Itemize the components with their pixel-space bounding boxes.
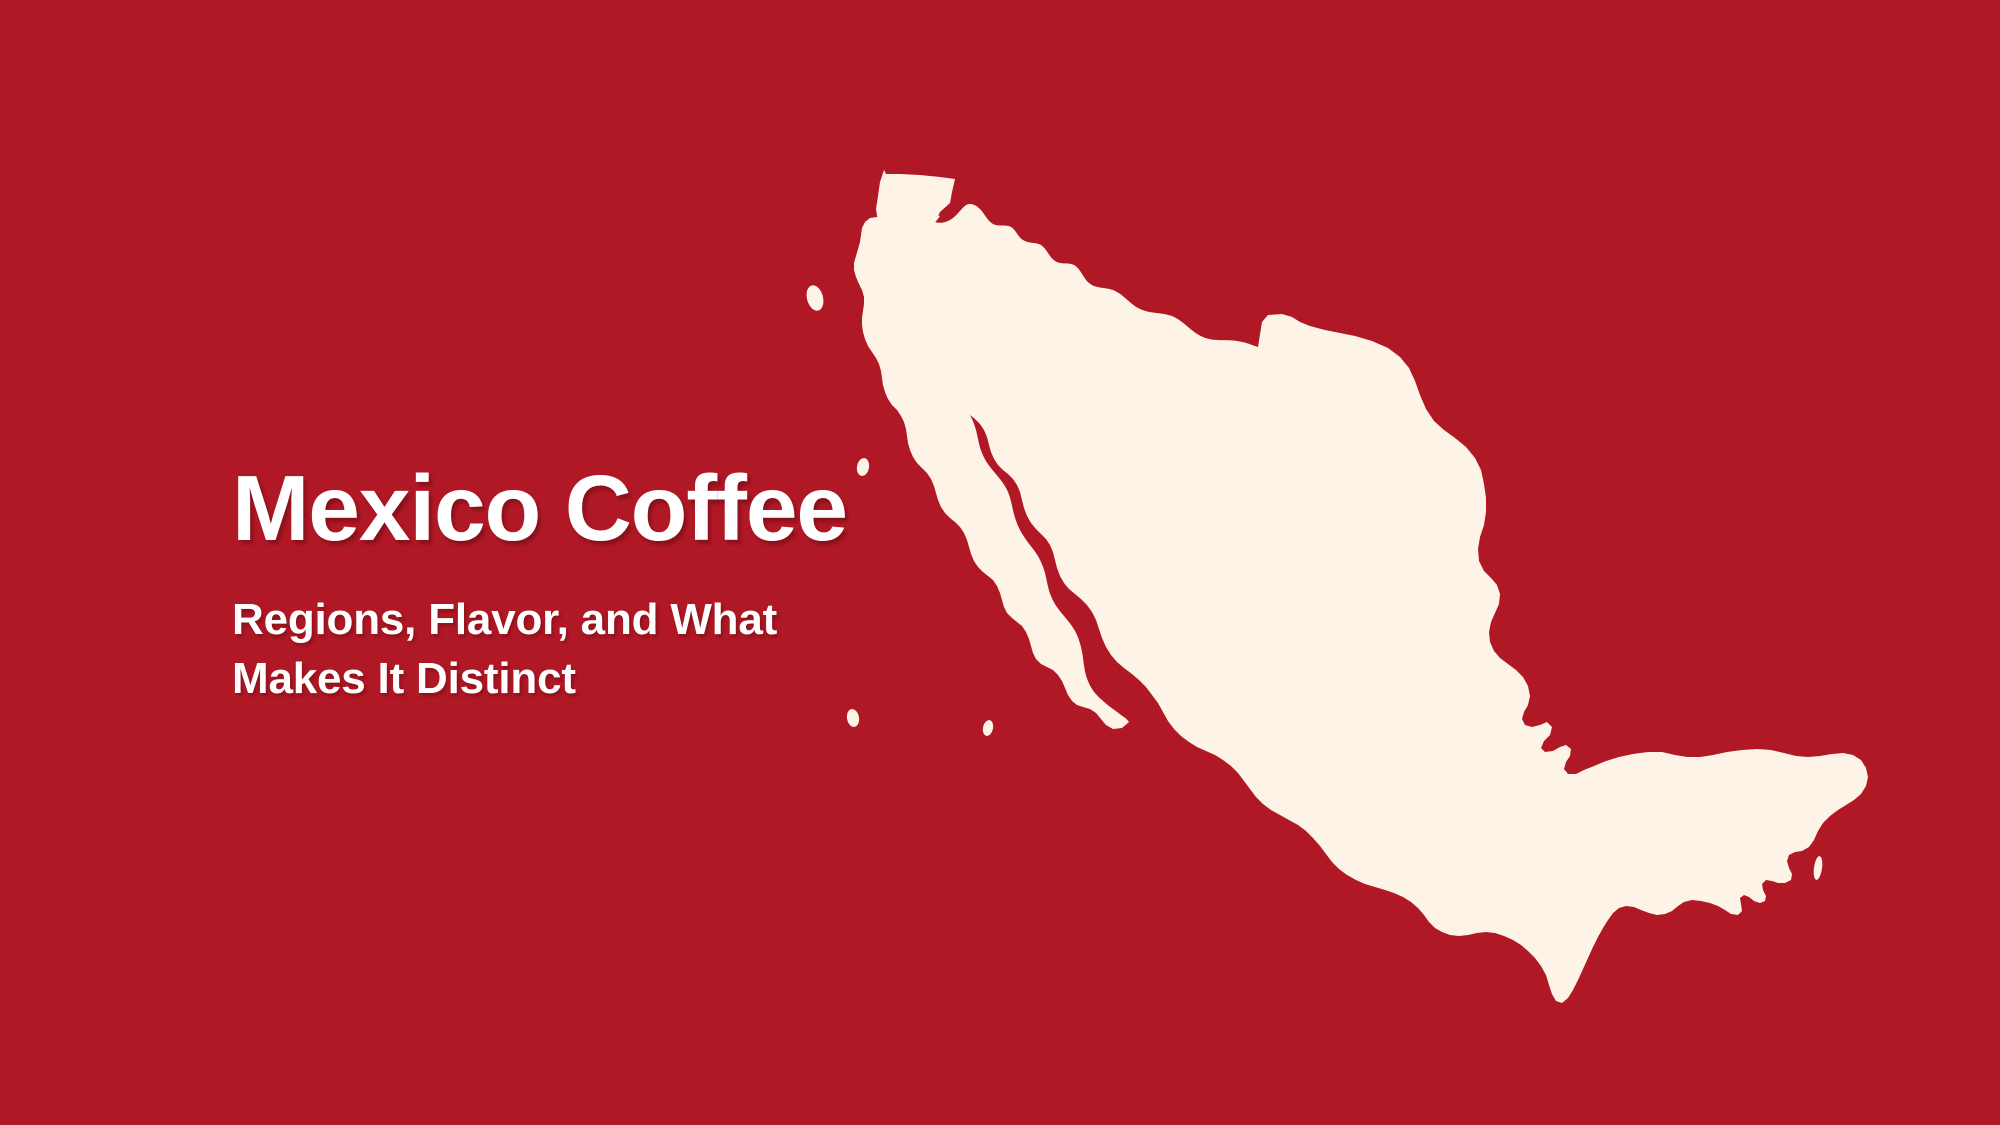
subtitle-line-2: Makes It Distinct — [232, 650, 992, 709]
island-cozumel-icon — [1812, 856, 1823, 881]
island-clarion-icon — [846, 708, 861, 728]
mexico-mainland-group — [861, 170, 1868, 1003]
island-angel-de-la-guarda-icon — [1021, 340, 1041, 364]
island-revillagigedo-icon — [981, 719, 994, 737]
mexico-mainland-path — [861, 170, 1868, 1003]
headline-block: Mexico Coffee Regions, Flavor, and What … — [232, 462, 992, 708]
island-tiburon-icon — [1176, 517, 1196, 542]
island-guadalupe-icon — [804, 283, 826, 312]
island-natividad-icon — [925, 362, 940, 379]
subtitle-line-1: Regions, Flavor, and What — [232, 591, 992, 650]
page-title: Mexico Coffee — [232, 462, 992, 555]
poster-canvas: Mexico Coffee Regions, Flavor, and What … — [0, 0, 2000, 1125]
page-subtitle: Regions, Flavor, and What Makes It Disti… — [232, 591, 992, 708]
island-cedros-icon — [886, 334, 907, 361]
